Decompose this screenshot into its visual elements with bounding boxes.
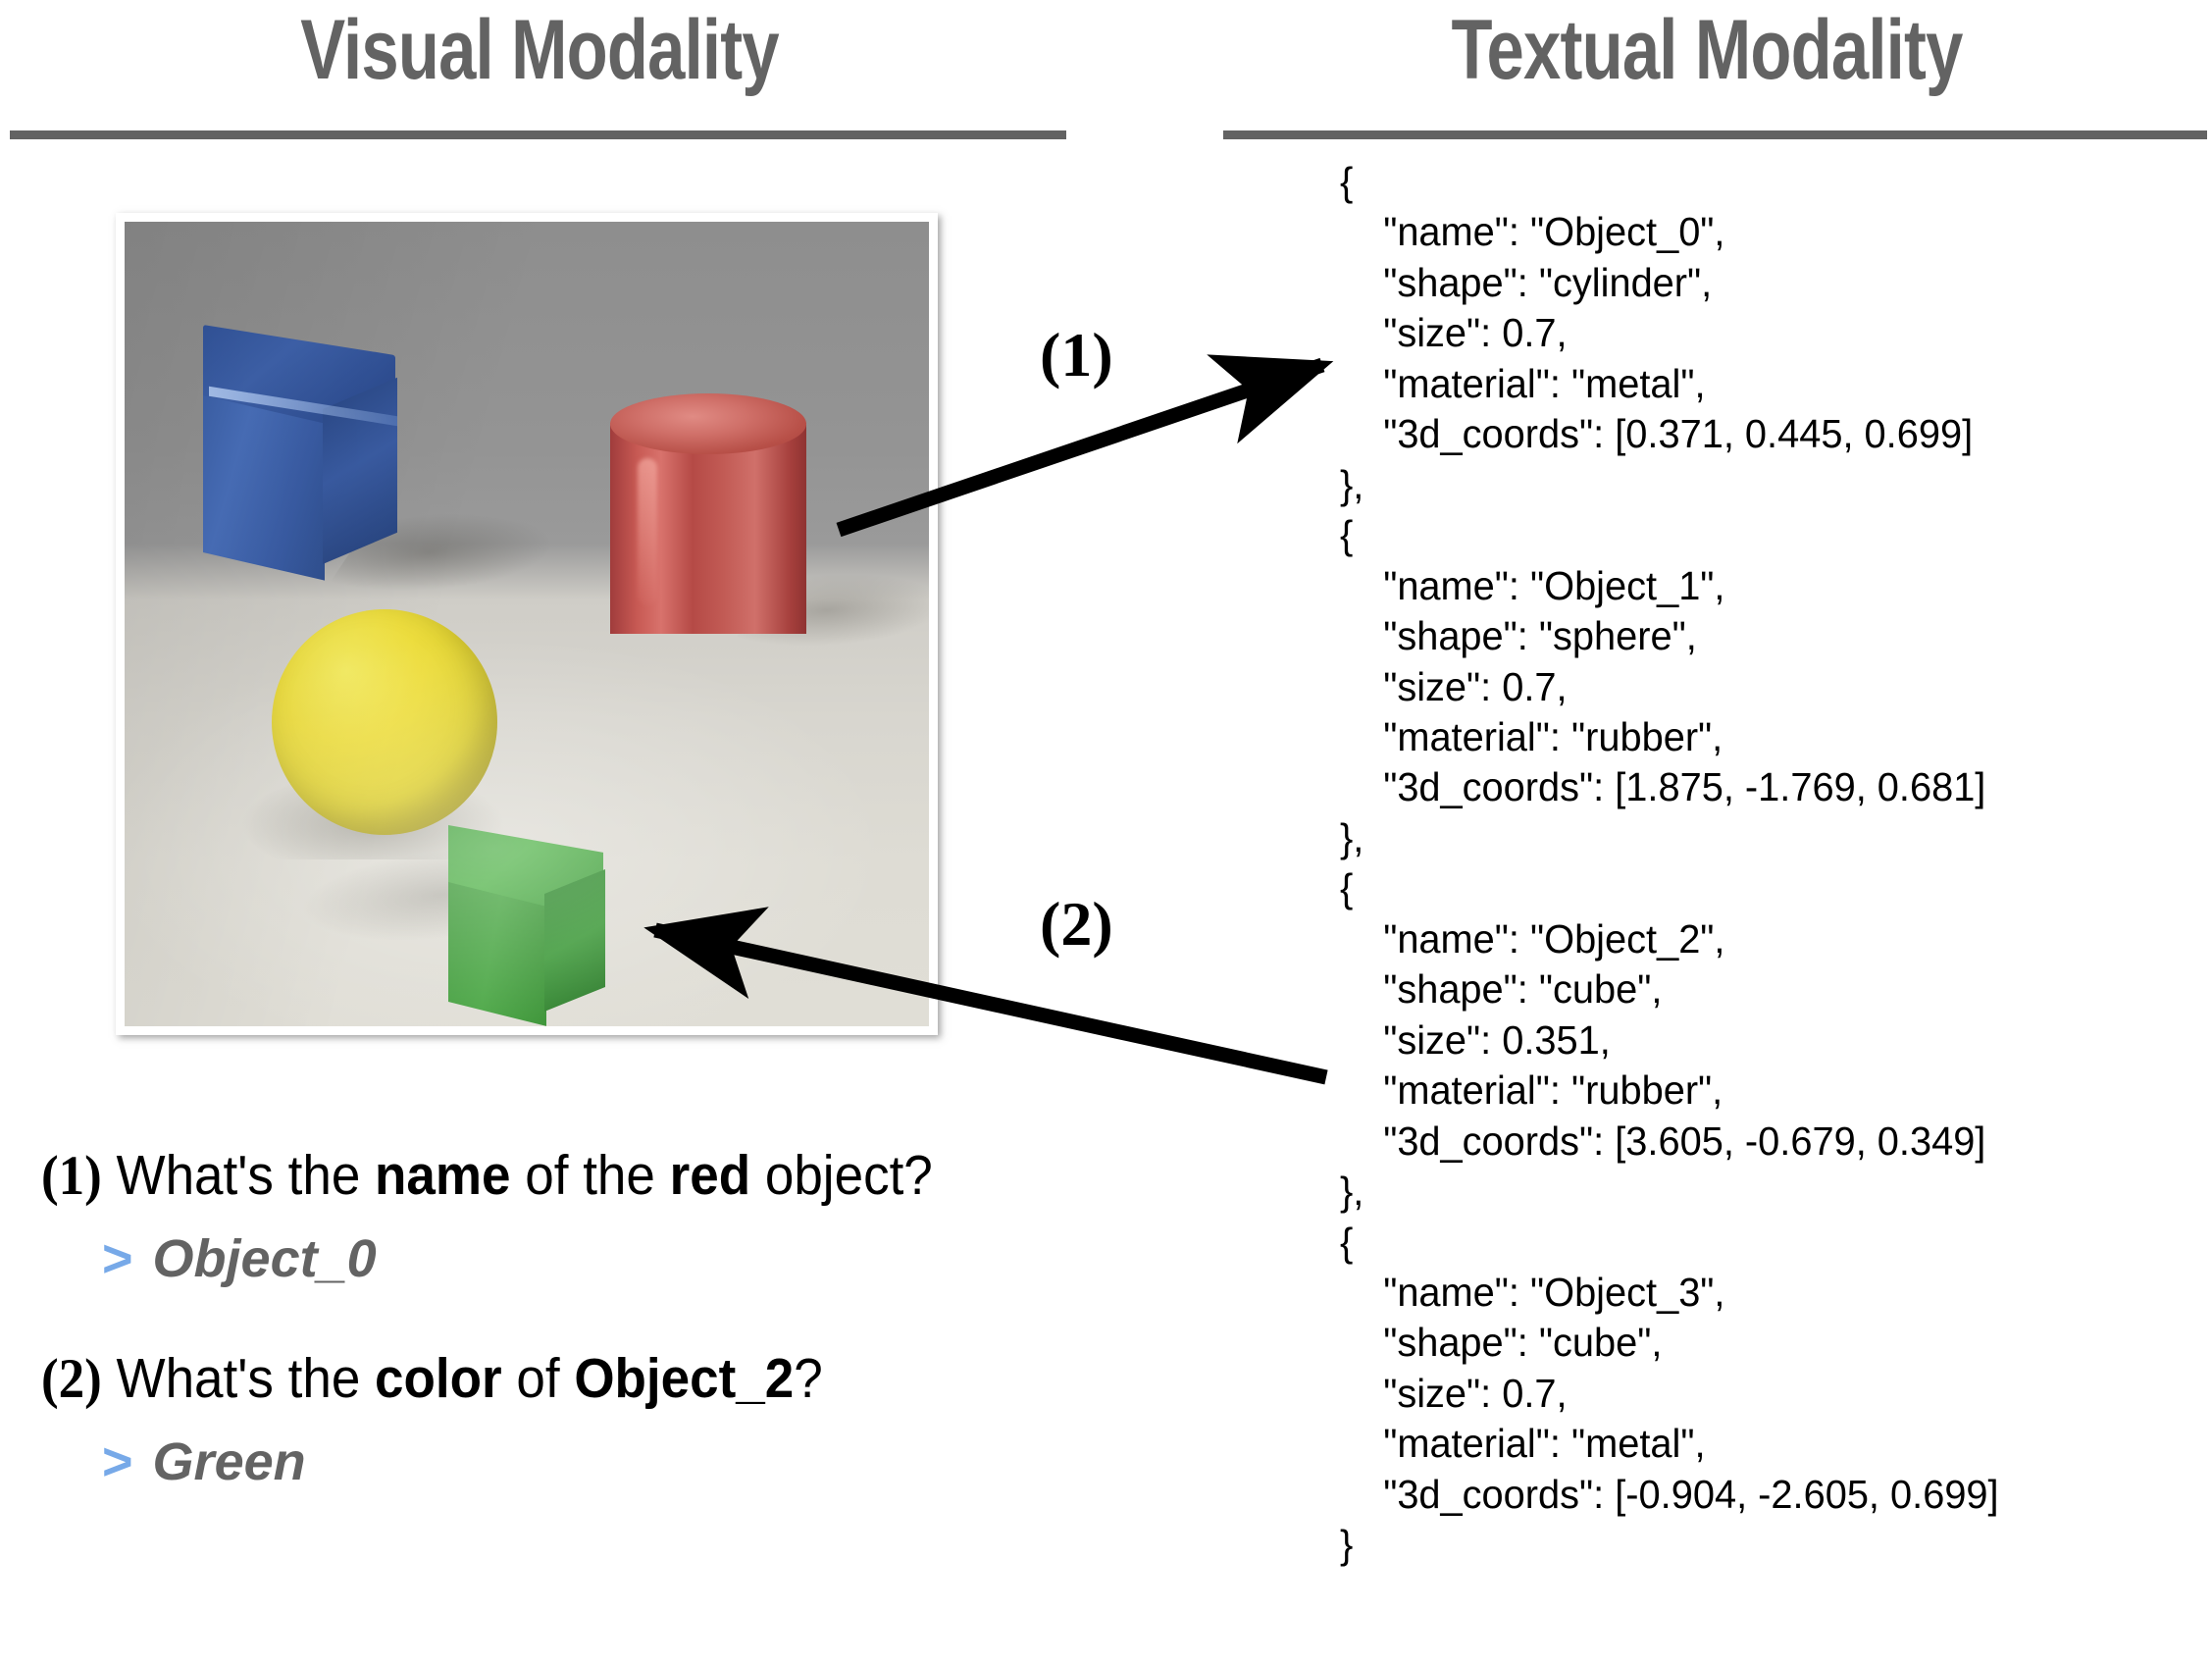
- json-line: "size": 0.351,: [1340, 1015, 2178, 1066]
- rendered-scene-image: [116, 213, 938, 1035]
- answer-chevron-icon: >: [102, 1229, 133, 1288]
- json-line: "material": "rubber",: [1340, 1066, 2178, 1116]
- question-2-suffix: ?: [794, 1347, 822, 1410]
- question-2-prefix: What's the: [102, 1347, 375, 1410]
- json-line: "shape": "cube",: [1340, 1318, 2178, 1368]
- json-line: {: [1340, 1218, 2178, 1268]
- json-line: "material": "metal",: [1340, 359, 2178, 409]
- json-line: "material": "metal",: [1340, 1419, 2178, 1469]
- blue-metal-cube: [203, 325, 409, 550]
- textual-modality-title: Textual Modality: [1307, 8, 2107, 92]
- question-1-suffix: object?: [750, 1144, 933, 1207]
- yellow-rubber-sphere: [272, 609, 497, 835]
- json-line: "shape": "sphere",: [1340, 611, 2178, 661]
- textual-modality-rule: [1223, 130, 2207, 139]
- arrow-label-2: (2): [1040, 893, 1113, 956]
- json-line: {: [1340, 157, 2178, 207]
- question-2-middle: of: [502, 1347, 575, 1410]
- answer-1-row: >Object_0: [102, 1232, 1000, 1285]
- question-1-keyword-2: red: [670, 1144, 750, 1207]
- red-cylinder-top-cap: [610, 393, 806, 454]
- blue-cube-front-face: [203, 395, 325, 581]
- question-1-keyword-1: name: [375, 1144, 510, 1207]
- question-2-keyword-2: Object_2: [574, 1347, 794, 1410]
- qa-item-1: (1) What's the name of the red object? >…: [41, 1146, 1000, 1285]
- json-line: "3d_coords": [1.875, -1.769, 0.681]: [1340, 762, 2178, 812]
- answer-1-text: Object_0: [153, 1229, 377, 1288]
- question-1-prefix: What's the: [102, 1144, 375, 1207]
- json-line: "shape": "cube",: [1340, 964, 2178, 1014]
- answer-2-text: Green: [153, 1432, 306, 1491]
- red-cylinder-highlight: [638, 458, 657, 605]
- json-line: {: [1340, 510, 2178, 560]
- visual-modality-title: Visual Modality: [108, 8, 971, 92]
- red-metal-cylinder: [610, 393, 806, 649]
- json-line: {: [1340, 863, 2178, 913]
- question-2-keyword-1: color: [375, 1347, 502, 1410]
- json-line: "shape": "cylinder",: [1340, 258, 2178, 308]
- question-2-text: (2) What's the color of Object_2?: [41, 1349, 823, 1410]
- json-line: "3d_coords": [0.371, 0.445, 0.699]: [1340, 409, 2178, 459]
- json-line: "size": 0.7,: [1340, 662, 2178, 712]
- question-1-text: (1) What's the name of the red object?: [41, 1146, 933, 1207]
- visual-modality-rule: [10, 130, 1066, 139]
- scene-json-listing: { "name": "Object_0", "shape": "cylinder…: [1340, 157, 2178, 1571]
- arrow-label-1: (1): [1040, 324, 1113, 387]
- question-1-number: (1): [41, 1145, 102, 1207]
- json-line: "material": "rubber",: [1340, 712, 2178, 762]
- answer-2-row: >Green: [102, 1435, 882, 1488]
- green-cube-side-face: [544, 869, 605, 1012]
- figure-root: Visual Modality Textual Modality: [0, 0, 2212, 1664]
- json-line: "name": "Object_3",: [1340, 1268, 2178, 1318]
- json-line: "name": "Object_2",: [1340, 914, 2178, 964]
- green-cube-front-face: [448, 882, 546, 1026]
- question-1-middle: of the: [511, 1144, 670, 1207]
- json-line: },: [1340, 460, 2178, 510]
- json-line: "name": "Object_1",: [1340, 561, 2178, 611]
- json-line: "name": "Object_0",: [1340, 207, 2178, 257]
- question-2-number: (2): [41, 1348, 102, 1410]
- json-line: },: [1340, 1167, 2178, 1217]
- json-line: "3d_coords": [3.605, -0.679, 0.349]: [1340, 1117, 2178, 1167]
- answer-chevron-icon: >: [102, 1432, 133, 1491]
- json-line: },: [1340, 813, 2178, 863]
- json-line: "size": 0.7,: [1340, 308, 2178, 358]
- scene-canvas: [125, 222, 929, 1026]
- qa-item-2: (2) What's the color of Object_2? >Green: [41, 1349, 882, 1488]
- json-line: "size": 0.7,: [1340, 1369, 2178, 1419]
- json-line: "3d_coords": [-0.904, -2.605, 0.699]: [1340, 1470, 2178, 1520]
- green-rubber-cube: [448, 825, 625, 1007]
- json-line: }: [1340, 1520, 2178, 1570]
